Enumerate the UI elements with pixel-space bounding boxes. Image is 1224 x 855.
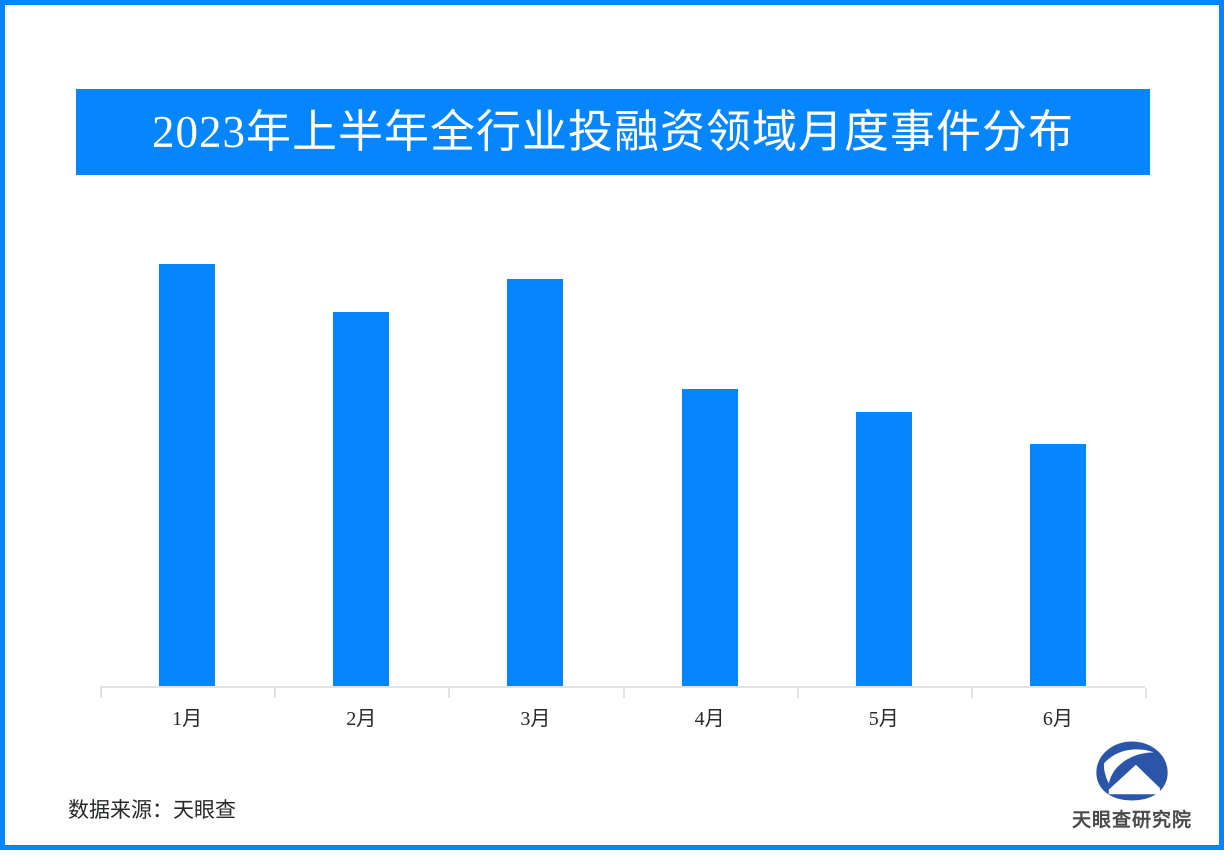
x-axis-tick — [971, 688, 973, 698]
x-axis-labels: 1月2月3月4月5月6月 — [100, 704, 1145, 738]
bar-3月[interactable] — [507, 279, 563, 687]
bar-slot — [971, 205, 1145, 687]
bar-chart: 1月2月3月4月5月6月 — [5, 5, 1224, 855]
source-note: 数据来源：天眼查 — [68, 794, 236, 824]
bar-slot — [623, 205, 797, 687]
x-axis-tick — [100, 688, 102, 698]
poster-canvas: 2023年上半年全行业投融资领域月度事件分布 1月2月3月4月5月6月 数据来源… — [0, 0, 1224, 850]
bar-4月[interactable] — [682, 389, 738, 687]
bar-6月[interactable] — [1030, 444, 1086, 687]
x-axis-tick — [623, 688, 625, 698]
tianyancha-eye-icon — [1093, 740, 1171, 802]
x-axis-tick — [274, 688, 276, 698]
x-axis-label-3月: 3月 — [448, 704, 622, 734]
bar-slot — [100, 205, 274, 687]
logo: 天眼查研究院 — [1062, 740, 1202, 840]
bar-2月[interactable] — [333, 312, 389, 687]
x-axis-label-5月: 5月 — [797, 704, 971, 734]
x-axis-label-1月: 1月 — [100, 704, 274, 734]
bar-slot — [274, 205, 448, 687]
x-axis-label-2月: 2月 — [274, 704, 448, 734]
bar-slot — [448, 205, 622, 687]
plot-area — [100, 205, 1145, 687]
bar-1月[interactable] — [159, 264, 215, 687]
x-axis-label-4月: 4月 — [623, 704, 797, 734]
bar-5月[interactable] — [856, 412, 912, 687]
x-axis-label-6月: 6月 — [971, 704, 1145, 734]
x-axis-tick — [1145, 688, 1147, 698]
bar-slot — [797, 205, 971, 687]
x-axis-tick — [448, 688, 450, 698]
logo-text: 天眼查研究院 — [1072, 805, 1192, 832]
x-axis-tick — [797, 688, 799, 698]
